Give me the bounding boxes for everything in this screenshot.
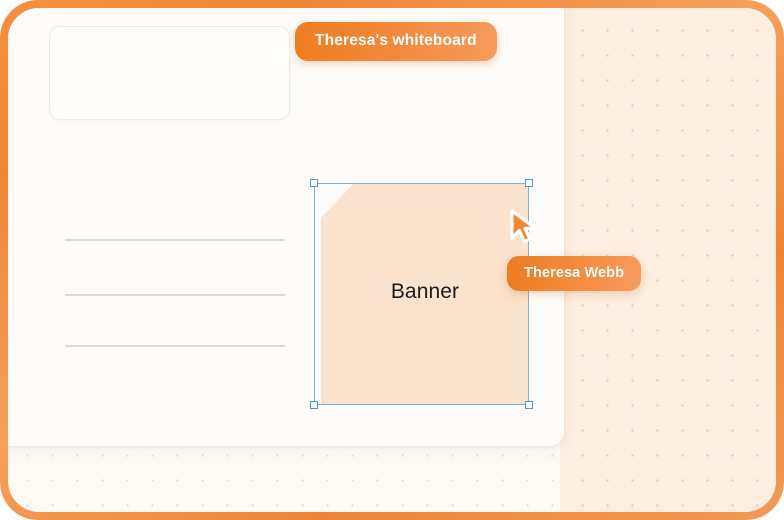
resize-handle-top-right[interactable]: [525, 179, 533, 187]
collaborator-name-badge[interactable]: Theresa Webb: [507, 256, 641, 291]
selection-bounding-box[interactable]: [314, 183, 529, 405]
placeholder-block[interactable]: [49, 26, 290, 120]
placeholder-line: [65, 294, 285, 296]
resize-handle-top-left[interactable]: [310, 179, 318, 187]
resize-handle-bottom-right[interactable]: [525, 401, 533, 409]
app-frame: Banner Theresa's whiteboard Theresa Webb: [0, 0, 784, 520]
resize-handle-bottom-left[interactable]: [310, 401, 318, 409]
placeholder-line: [65, 239, 285, 241]
board-title-badge[interactable]: Theresa's whiteboard: [295, 22, 497, 61]
placeholder-line: [65, 345, 285, 347]
collaborator-cursor-icon: [507, 208, 541, 248]
whiteboard-canvas[interactable]: Banner Theresa's whiteboard Theresa Webb: [8, 8, 776, 512]
